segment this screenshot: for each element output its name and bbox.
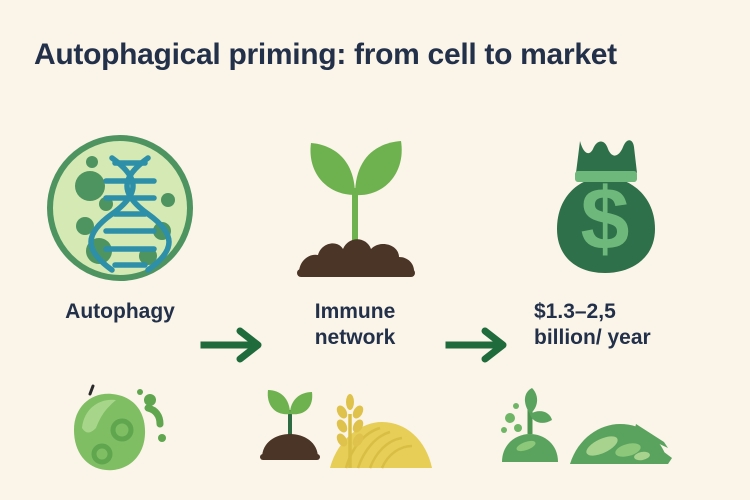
svg-text:$: $	[581, 169, 630, 268]
arrow-right-icon	[200, 325, 270, 365]
seedling-soil-icon	[285, 130, 425, 285]
sprout-and-wheat-field-icon	[258, 380, 438, 485]
green-crop-field-icon	[496, 384, 676, 484]
stage-market-value: $ $1.3–2,5 billion/ year	[500, 130, 710, 350]
process-flow: Autophagy Immune network	[0, 130, 750, 380]
page-title: Autophagical priming: from cell to marke…	[34, 38, 724, 71]
stage-immune-network: Immune network	[250, 130, 460, 350]
stage-label-market-value: $1.3–2,5 billion/ year	[534, 299, 694, 350]
arrow-right-icon	[445, 325, 515, 365]
stage-label-immune-network: Immune network	[315, 299, 396, 350]
stage-autophagy: Autophagy	[15, 130, 225, 325]
stage-label-autophagy: Autophagy	[65, 299, 175, 325]
decorative-strip	[0, 378, 750, 500]
money-bag-icon: $	[535, 130, 675, 285]
cell-dna-icon	[44, 130, 196, 285]
green-cell-blob-icon	[62, 384, 172, 484]
infographic-canvas: Autophagical priming: from cell to marke…	[0, 0, 750, 500]
